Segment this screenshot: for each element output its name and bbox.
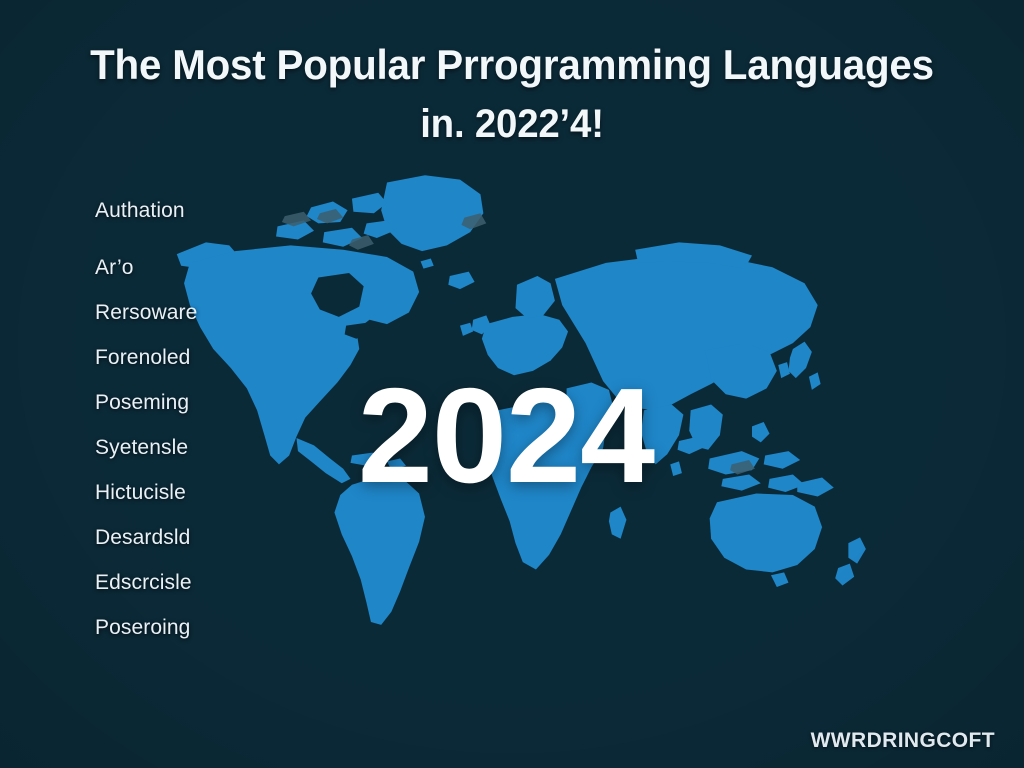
list-item: Desardsld (95, 525, 285, 551)
watermark-text: WWRDRINGCOFT (811, 729, 995, 752)
language-list: Authation Ar’o Rersoware Forenoled Posem… (95, 198, 285, 641)
title-line-secondary: in. 2022’4! (20, 96, 1003, 152)
list-item: Poseming (95, 390, 285, 416)
list-item: Hictucisle (95, 480, 285, 506)
watermark: WWRDRINGCOFT (811, 729, 995, 753)
list-item: Poseroing (95, 615, 285, 641)
year-text: 2024 (358, 376, 654, 496)
title-line-primary: The Most Popular Prrogramming Languages (20, 38, 1003, 92)
list-item: Edscrcisle (95, 570, 285, 596)
list-item: Syetensle (95, 435, 285, 461)
page-title: The Most Popular Prrogramming Languages … (0, 38, 1024, 152)
list-item: Rersoware (95, 300, 285, 326)
list-item: Authation (95, 198, 285, 224)
list-item: Forenoled (95, 345, 285, 371)
list-item: Ar’o (95, 255, 285, 281)
infographic-poster: The Most Popular Prrogramming Languages … (0, 0, 1024, 768)
